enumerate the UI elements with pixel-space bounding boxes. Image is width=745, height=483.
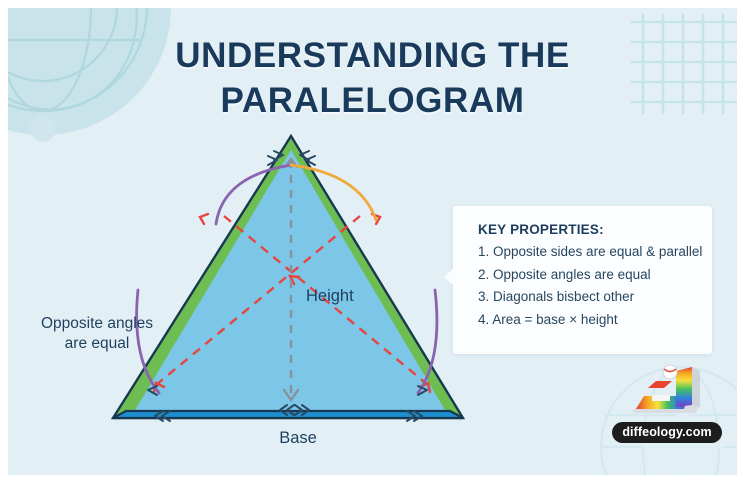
key-properties-list: 1. Opposite sides are equal & parallel 2… — [478, 244, 702, 334]
label-base: Base — [253, 428, 343, 449]
infographic-sheet: UNDERSTANDING THE PARALELOGRAM — [8, 8, 737, 475]
key-property-item: 4. Area = base × height — [478, 312, 702, 327]
brand-logo: diffeology.com — [612, 363, 722, 443]
key-property-item: 1. Opposite sides are equal & parallel — [478, 244, 702, 259]
key-properties-card: KEY PROPERTIES: 1. Opposite sides are eq… — [453, 206, 712, 354]
key-properties-heading: KEY PROPERTIES: — [478, 222, 604, 237]
brand-badge-text: diffeology.com — [612, 422, 722, 443]
key-property-item: 2. Opposite angles are equal — [478, 267, 702, 282]
key-property-item: 3. Diagonals bisbect other — [478, 289, 702, 304]
infographic-canvas: UNDERSTANDING THE PARALELOGRAM — [0, 0, 745, 483]
rainbow-logo-mark-icon — [626, 363, 708, 419]
label-height: Height — [306, 286, 354, 307]
label-opposite-angles-are-equal: Opposite angles are equal — [22, 314, 172, 354]
